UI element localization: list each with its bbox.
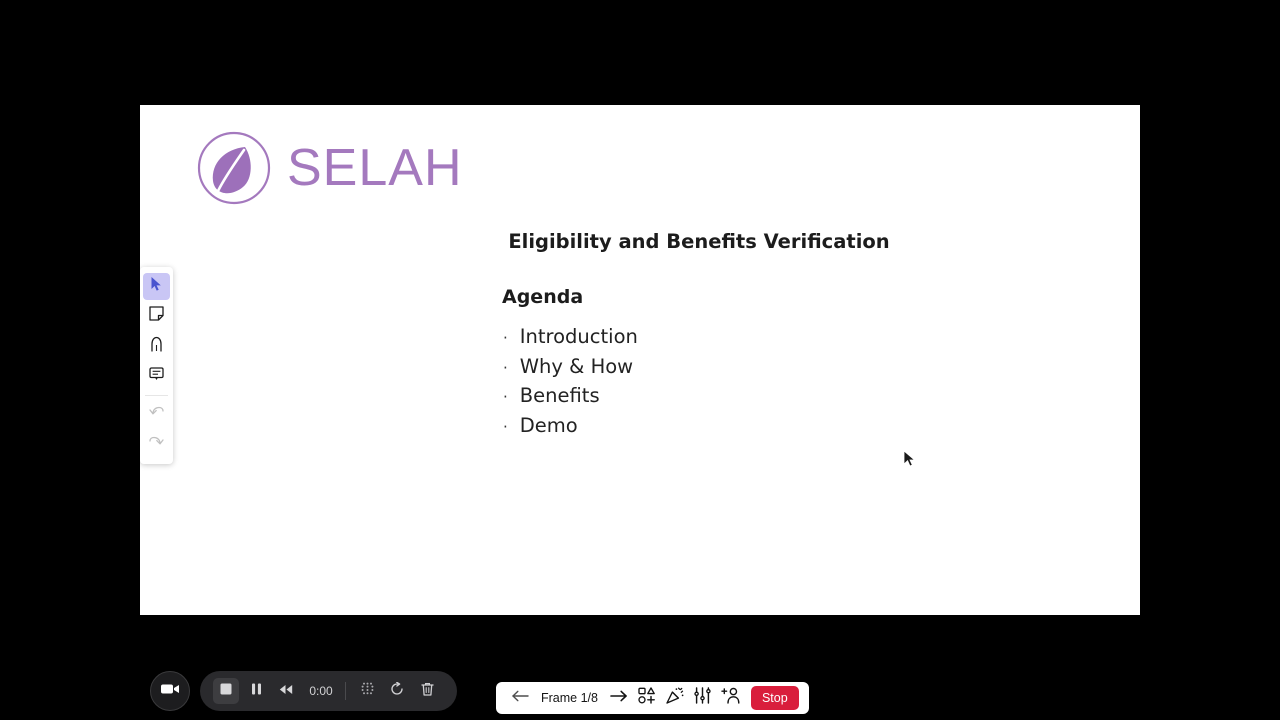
arrow-right-icon bbox=[610, 689, 628, 708]
list-item-label: Introduction bbox=[520, 323, 638, 352]
recorder-divider bbox=[345, 682, 346, 700]
sidebar-item-pen-tool[interactable] bbox=[143, 333, 170, 360]
elapsed-time: 0:00 bbox=[307, 684, 335, 698]
list-item: · Introduction bbox=[503, 323, 638, 353]
shapes-icon bbox=[638, 687, 655, 709]
cursor-arrow-icon bbox=[150, 276, 163, 297]
confetti-icon bbox=[666, 687, 684, 709]
brand-name: SELAH bbox=[287, 142, 463, 194]
list-item: · Benefits bbox=[503, 382, 638, 412]
frame-navigation-bar: Frame 1/8 bbox=[496, 682, 809, 714]
sidebar-item-comment-tool[interactable] bbox=[143, 363, 170, 390]
list-item: · Why & How bbox=[503, 353, 638, 383]
next-frame-button[interactable] bbox=[605, 684, 633, 712]
screen-root: SELAH Eligibility and Benefits Verificat… bbox=[0, 0, 1280, 720]
invite-button[interactable] bbox=[717, 684, 745, 712]
rewind-button[interactable] bbox=[273, 678, 299, 704]
slide-canvas[interactable]: SELAH Eligibility and Benefits Verificat… bbox=[140, 105, 1140, 615]
bullet-marker: · bbox=[503, 324, 508, 353]
redo-arrow-icon bbox=[149, 435, 164, 453]
comment-bubble-icon bbox=[149, 366, 164, 386]
stop-square-icon bbox=[220, 682, 232, 700]
sticky-note-icon bbox=[149, 306, 164, 326]
sidebar-item-note-tool[interactable] bbox=[143, 303, 170, 330]
frame-counter: Frame 1/8 bbox=[534, 691, 605, 705]
drag-dots-icon bbox=[361, 682, 374, 700]
pen-icon bbox=[149, 336, 164, 357]
agenda-heading: Agenda bbox=[502, 286, 583, 308]
undo-button[interactable] bbox=[143, 401, 170, 428]
undo-arrow-icon bbox=[149, 405, 164, 423]
add-person-icon bbox=[721, 687, 740, 709]
bullet-marker: · bbox=[503, 383, 508, 412]
restart-recording-button[interactable] bbox=[384, 678, 410, 704]
previous-frame-button[interactable] bbox=[506, 684, 534, 712]
camera-toggle-button[interactable] bbox=[150, 671, 190, 711]
arrow-left-icon bbox=[511, 689, 529, 708]
stop-recording-button[interactable] bbox=[213, 678, 239, 704]
video-camera-icon bbox=[160, 682, 180, 701]
shapes-button[interactable] bbox=[633, 684, 661, 712]
pause-recording-button[interactable] bbox=[243, 678, 269, 704]
bullet-marker: · bbox=[503, 354, 508, 383]
list-item-label: Why & How bbox=[520, 353, 633, 382]
trash-icon bbox=[421, 682, 434, 701]
mouse-pointer-icon bbox=[903, 450, 917, 468]
leaf-circle-logo-icon bbox=[195, 129, 273, 207]
brand-logo: SELAH bbox=[195, 129, 463, 207]
agenda-list: · Introduction · Why & How · Benefits · … bbox=[503, 323, 638, 441]
sidebar-item-select-tool[interactable] bbox=[143, 273, 170, 300]
sliders-icon bbox=[694, 687, 711, 709]
rewind-icon bbox=[279, 682, 293, 700]
toolbar-divider bbox=[145, 395, 168, 396]
restart-arrow-icon bbox=[390, 682, 404, 701]
drag-handle[interactable] bbox=[354, 678, 380, 704]
pause-icon bbox=[251, 682, 262, 700]
delete-recording-button[interactable] bbox=[414, 678, 440, 704]
redo-button[interactable] bbox=[143, 431, 170, 458]
stop-presentation-button[interactable]: Stop bbox=[751, 686, 799, 710]
annotation-toolbar bbox=[140, 267, 173, 464]
list-item-label: Demo bbox=[520, 412, 578, 441]
list-item: · Demo bbox=[503, 412, 638, 442]
page-title: Eligibility and Benefits Verification bbox=[419, 230, 979, 253]
effects-button[interactable] bbox=[661, 684, 689, 712]
recording-controls: 0:00 bbox=[200, 671, 457, 711]
settings-button[interactable] bbox=[689, 684, 717, 712]
list-item-label: Benefits bbox=[520, 382, 600, 411]
bullet-marker: · bbox=[503, 413, 508, 442]
